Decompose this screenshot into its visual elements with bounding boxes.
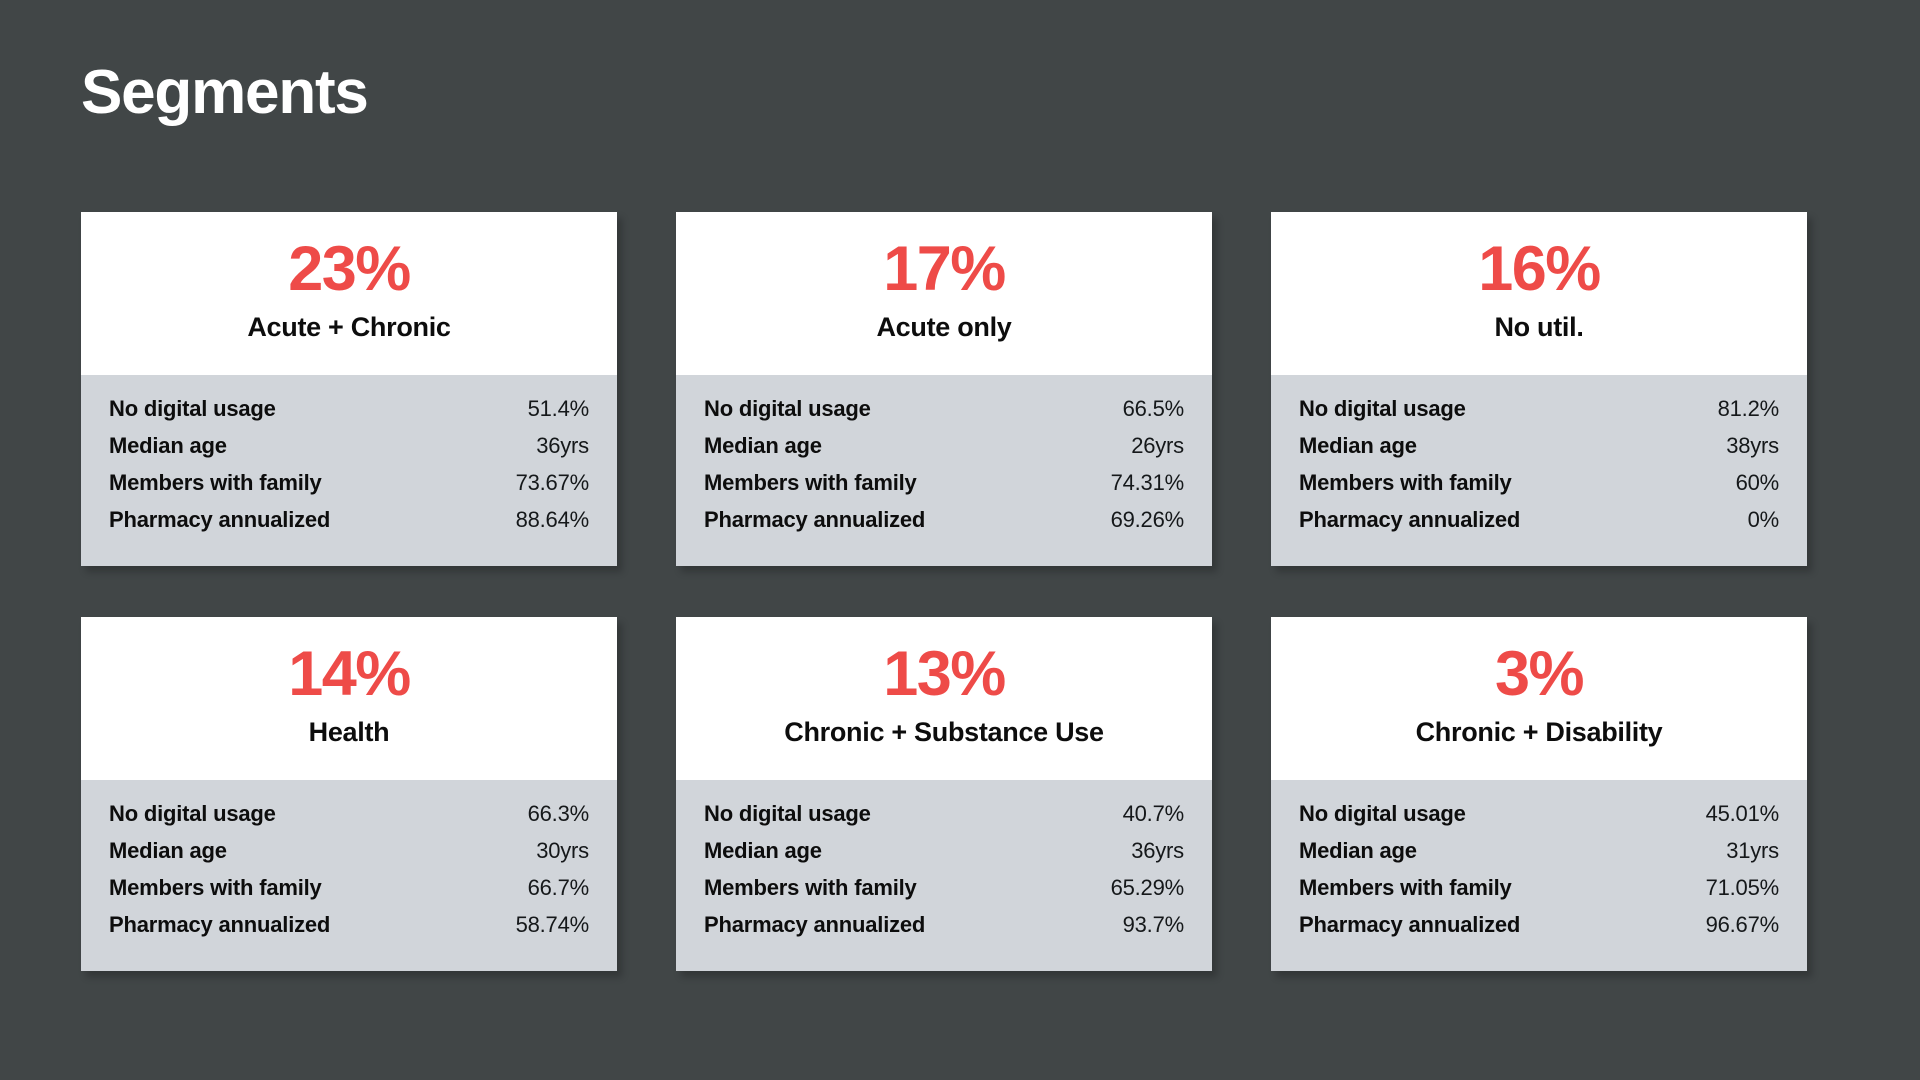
stat-value: 51.4%: [528, 396, 589, 422]
stat-value: 45.01%: [1706, 801, 1779, 827]
segment-card-header: 3% Chronic + Disability: [1271, 617, 1807, 780]
stat-label: Members with family: [109, 470, 322, 496]
stat-row: Members with family 71.05%: [1299, 875, 1779, 912]
stat-value: 66.5%: [1123, 396, 1184, 422]
stat-label: No digital usage: [704, 801, 871, 827]
segment-card[interactable]: 14% Health No digital usage 66.3% Median…: [81, 617, 617, 971]
stat-row: No digital usage 66.3%: [109, 801, 589, 838]
stat-value: 88.64%: [516, 507, 589, 533]
segment-stats-panel: No digital usage 66.5% Median age 26yrs …: [676, 375, 1212, 566]
stat-label: Members with family: [1299, 875, 1512, 901]
segment-percentage: 3%: [1495, 641, 1583, 707]
segment-card[interactable]: 17% Acute only No digital usage 66.5% Me…: [676, 212, 1212, 566]
stat-row: Members with family 66.7%: [109, 875, 589, 912]
stat-row: No digital usage 40.7%: [704, 801, 1184, 838]
segment-stats-panel: No digital usage 66.3% Median age 30yrs …: [81, 780, 617, 971]
stat-label: Median age: [704, 838, 822, 864]
stat-row: Median age 31yrs: [1299, 838, 1779, 875]
page-title: Segments: [81, 62, 368, 124]
segment-name: Acute only: [866, 313, 1021, 343]
stat-row: Pharmacy annualized 69.26%: [704, 507, 1184, 544]
stat-value: 36yrs: [536, 433, 589, 459]
stat-row: No digital usage 45.01%: [1299, 801, 1779, 838]
stat-value: 73.67%: [516, 470, 589, 496]
stat-value: 36yrs: [1131, 838, 1184, 864]
stat-value: 81.2%: [1718, 396, 1779, 422]
stat-value: 66.3%: [528, 801, 589, 827]
segment-percentage: 17%: [883, 236, 1005, 302]
stat-row: Pharmacy annualized 93.7%: [704, 912, 1184, 949]
segment-card[interactable]: 13% Chronic + Substance Use No digital u…: [676, 617, 1212, 971]
segment-stats-panel: No digital usage 45.01% Median age 31yrs…: [1271, 780, 1807, 971]
segment-name: Health: [299, 718, 400, 748]
stat-label: No digital usage: [704, 396, 871, 422]
stat-row: Pharmacy annualized 58.74%: [109, 912, 589, 949]
stat-value: 93.7%: [1123, 912, 1184, 938]
stat-row: No digital usage 66.5%: [704, 396, 1184, 433]
segment-stats-panel: No digital usage 81.2% Median age 38yrs …: [1271, 375, 1807, 566]
stat-row: Pharmacy annualized 88.64%: [109, 507, 589, 544]
stat-label: Median age: [1299, 433, 1417, 459]
stat-label: No digital usage: [109, 801, 276, 827]
segment-name: Chronic + Disability: [1406, 718, 1673, 748]
stat-label: Pharmacy annualized: [109, 912, 330, 938]
segment-name: No util.: [1484, 313, 1593, 343]
stat-value: 71.05%: [1706, 875, 1779, 901]
segment-card[interactable]: 16% No util. No digital usage 81.2% Medi…: [1271, 212, 1807, 566]
stat-row: Median age 30yrs: [109, 838, 589, 875]
segment-name: Chronic + Substance Use: [774, 718, 1113, 748]
segment-card-header: 17% Acute only: [676, 212, 1212, 375]
stat-label: Pharmacy annualized: [109, 507, 330, 533]
stat-row: Pharmacy annualized 96.67%: [1299, 912, 1779, 949]
segment-percentage: 23%: [288, 236, 410, 302]
stat-row: No digital usage 51.4%: [109, 396, 589, 433]
stat-row: Members with family 73.67%: [109, 470, 589, 507]
stat-value: 30yrs: [536, 838, 589, 864]
stat-value: 65.29%: [1111, 875, 1184, 901]
stat-row: Median age 36yrs: [109, 433, 589, 470]
segment-percentage: 14%: [288, 641, 410, 707]
stat-label: Median age: [1299, 838, 1417, 864]
segment-percentage: 13%: [883, 641, 1005, 707]
stat-label: No digital usage: [109, 396, 276, 422]
segment-card-header: 16% No util.: [1271, 212, 1807, 375]
stat-label: Pharmacy annualized: [1299, 507, 1520, 533]
stat-value: 38yrs: [1726, 433, 1779, 459]
stat-value: 66.7%: [528, 875, 589, 901]
stat-value: 58.74%: [516, 912, 589, 938]
segment-card[interactable]: 3% Chronic + Disability No digital usage…: [1271, 617, 1807, 971]
stat-value: 96.67%: [1706, 912, 1779, 938]
stat-label: Median age: [109, 433, 227, 459]
stat-row: Members with family 65.29%: [704, 875, 1184, 912]
stat-row: Median age 26yrs: [704, 433, 1184, 470]
stat-row: No digital usage 81.2%: [1299, 396, 1779, 433]
segments-card-grid: 23% Acute + Chronic No digital usage 51.…: [81, 212, 1839, 971]
segment-card-header: 23% Acute + Chronic: [81, 212, 617, 375]
stat-label: Members with family: [109, 875, 322, 901]
stat-value: 31yrs: [1726, 838, 1779, 864]
segment-card[interactable]: 23% Acute + Chronic No digital usage 51.…: [81, 212, 617, 566]
stat-row: Pharmacy annualized 0%: [1299, 507, 1779, 544]
segment-stats-panel: No digital usage 51.4% Median age 36yrs …: [81, 375, 617, 566]
stat-row: Median age 36yrs: [704, 838, 1184, 875]
segment-percentage: 16%: [1478, 236, 1600, 302]
stat-row: Members with family 60%: [1299, 470, 1779, 507]
stat-label: No digital usage: [1299, 396, 1466, 422]
stat-value: 69.26%: [1111, 507, 1184, 533]
stat-row: Members with family 74.31%: [704, 470, 1184, 507]
stat-value: 0%: [1748, 507, 1779, 533]
stat-row: Median age 38yrs: [1299, 433, 1779, 470]
stat-label: Pharmacy annualized: [704, 507, 925, 533]
stat-label: Members with family: [704, 875, 917, 901]
stat-value: 60%: [1736, 470, 1779, 496]
stat-label: Pharmacy annualized: [704, 912, 925, 938]
segment-name: Acute + Chronic: [237, 313, 460, 343]
stat-label: No digital usage: [1299, 801, 1466, 827]
stat-value: 40.7%: [1123, 801, 1184, 827]
stat-label: Members with family: [704, 470, 917, 496]
segment-card-header: 13% Chronic + Substance Use: [676, 617, 1212, 780]
segment-card-header: 14% Health: [81, 617, 617, 780]
stat-label: Median age: [109, 838, 227, 864]
stat-value: 74.31%: [1111, 470, 1184, 496]
stat-value: 26yrs: [1131, 433, 1184, 459]
segment-stats-panel: No digital usage 40.7% Median age 36yrs …: [676, 780, 1212, 971]
stat-label: Pharmacy annualized: [1299, 912, 1520, 938]
stat-label: Median age: [704, 433, 822, 459]
stat-label: Members with family: [1299, 470, 1512, 496]
segments-page: Segments 23% Acute + Chronic No digital …: [0, 0, 1920, 1080]
